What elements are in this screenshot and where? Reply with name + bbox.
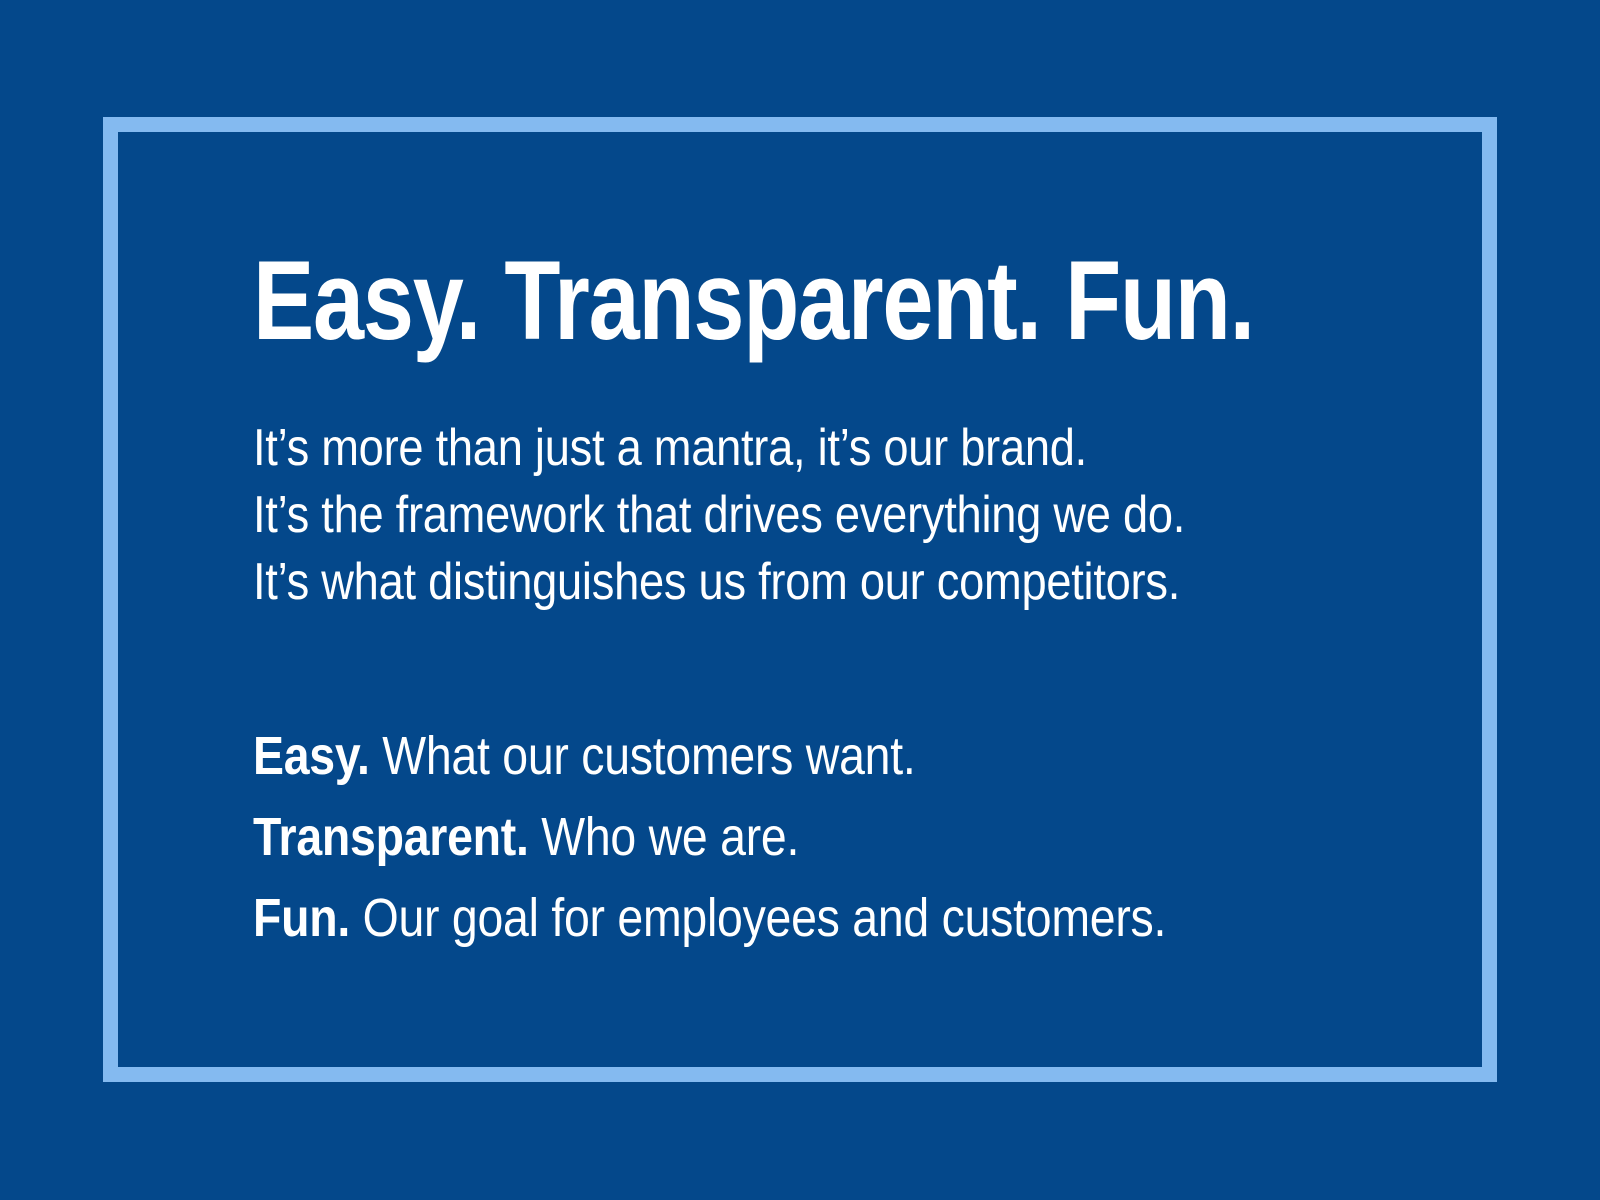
value-term-easy: Easy. [253, 726, 370, 786]
intro-line-3: It’s what distinguishes us from our comp… [253, 549, 1280, 616]
value-item-transparent: Transparent. Who we are. [253, 797, 1268, 878]
intro-paragraph: It’s more than just a mantra, it’s our b… [253, 415, 1433, 616]
slide-content: Easy. Transparent. Fun. It’s more than j… [253, 245, 1433, 959]
value-item-fun: Fun. Our goal for employees and customer… [253, 878, 1268, 959]
value-item-easy: Easy. What our customers want. [253, 716, 1268, 797]
value-description-easy: What our customers want. [382, 726, 915, 786]
value-list: Easy. What our customers want. Transpare… [253, 716, 1433, 959]
value-description-fun: Our goal for employees and customers. [363, 888, 1167, 948]
value-term-fun: Fun. [253, 888, 350, 948]
intro-line-2: It’s the framework that drives everythin… [253, 482, 1280, 549]
brand-mantra-slide: Easy. Transparent. Fun. It’s more than j… [0, 0, 1600, 1200]
page-title: Easy. Transparent. Fun. [253, 245, 1221, 357]
value-term-transparent: Transparent. [253, 807, 529, 867]
value-description-transparent: Who we are. [541, 807, 799, 867]
intro-line-1: It’s more than just a mantra, it’s our b… [253, 415, 1280, 482]
slide-border-frame: Easy. Transparent. Fun. It’s more than j… [103, 117, 1497, 1082]
